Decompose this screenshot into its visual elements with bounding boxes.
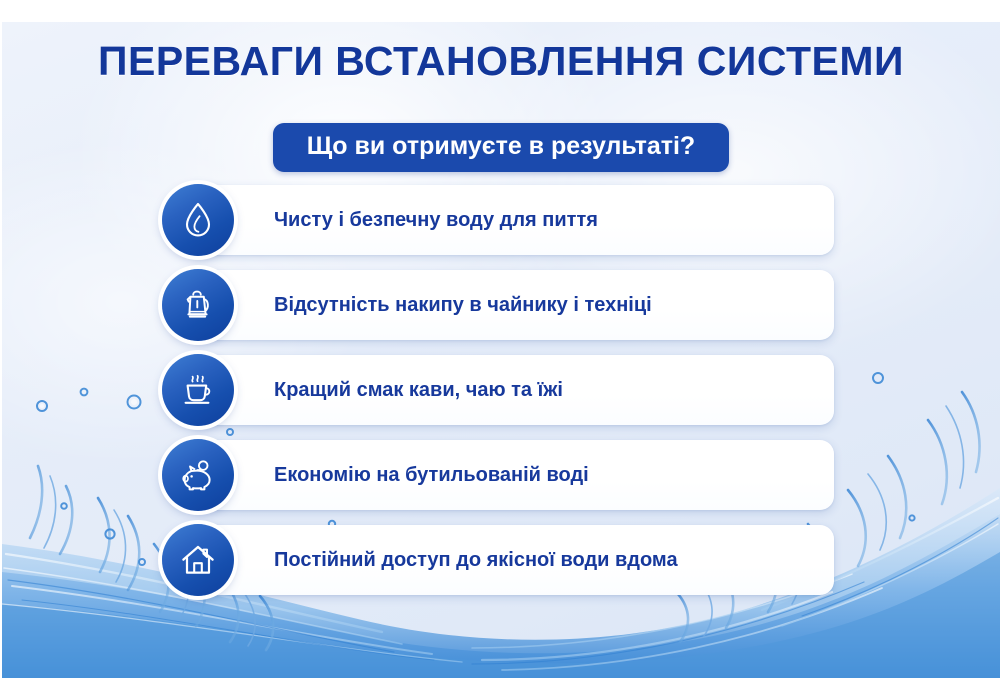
subtitle-pill: Що ви отримуєте в результаті? xyxy=(273,123,729,172)
benefit-card: Кращий смак кави, чаю та їжі xyxy=(190,355,834,425)
benefit-label: Відсутність накипу в чайнику і техніці xyxy=(274,270,652,340)
subtitle-container: Що ви отримуєте в результаті? xyxy=(2,123,1000,172)
list-item: Постійний доступ до якісної води вдома xyxy=(2,525,1000,595)
electric-kettle-icon xyxy=(178,285,218,325)
home-icon xyxy=(178,540,218,580)
list-item: Відсутність накипу в чайнику і техніці xyxy=(2,270,1000,340)
list-item: Економію на бутильованій воді xyxy=(2,440,1000,510)
benefit-icon-badge xyxy=(162,524,234,596)
benefit-label: Постійний доступ до якісної води вдома xyxy=(274,525,678,595)
infographic-canvas: ПЕРЕВАГИ ВСТАНОВЛЕННЯ СИСТЕМИ Що ви отри… xyxy=(0,0,1000,700)
benefit-card: Відсутність накипу в чайнику і техніці xyxy=(190,270,834,340)
benefit-label: Чисту і безпечну воду для пиття xyxy=(274,185,598,255)
benefit-card: Економію на бутильованій воді xyxy=(190,440,834,510)
benefit-icon-badge xyxy=(162,184,234,256)
benefit-icon-badge xyxy=(162,439,234,511)
list-item: Кращий смак кави, чаю та їжі xyxy=(2,355,1000,425)
benefit-label: Кращий смак кави, чаю та їжі xyxy=(274,355,563,425)
water-drop-icon xyxy=(178,200,218,240)
page-title: ПЕРЕВАГИ ВСТАНОВЛЕННЯ СИСТЕМИ xyxy=(2,38,1000,85)
benefits-list: Чисту і безпечну воду для пиття Відсутні… xyxy=(2,185,1000,610)
piggy-bank-icon xyxy=(178,455,218,495)
benefit-icon-badge xyxy=(162,354,234,426)
coffee-cup-icon xyxy=(178,370,218,410)
content-panel: ПЕРЕВАГИ ВСТАНОВЛЕННЯ СИСТЕМИ Що ви отри… xyxy=(2,22,1000,678)
benefit-card: Чисту і безпечну воду для пиття xyxy=(190,185,834,255)
list-item: Чисту і безпечну воду для пиття xyxy=(2,185,1000,255)
benefit-label: Економію на бутильованій воді xyxy=(274,440,589,510)
benefit-icon-badge xyxy=(162,269,234,341)
benefit-card: Постійний доступ до якісної води вдома xyxy=(190,525,834,595)
